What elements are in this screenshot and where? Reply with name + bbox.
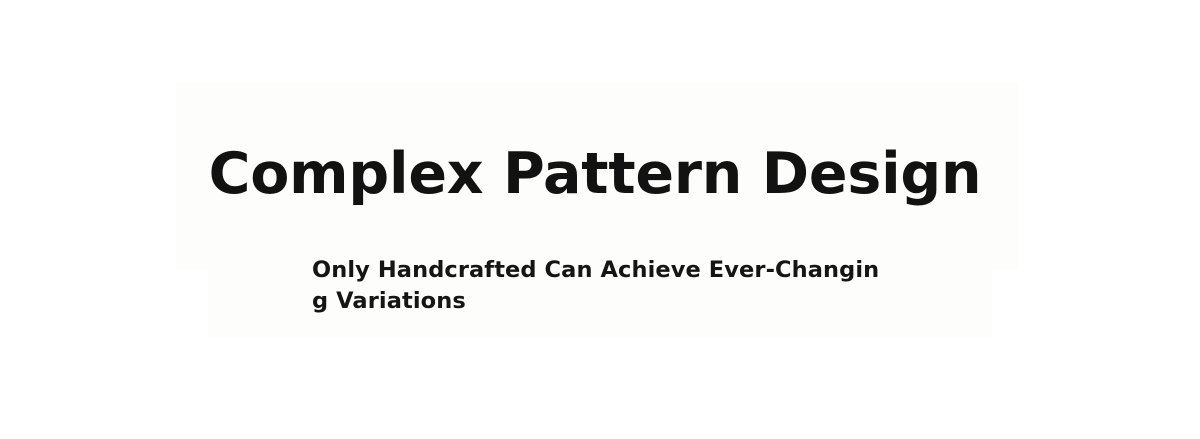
slide-canvas: Complex Pattern Design Only Handcrafted … [0, 0, 1200, 439]
subtitle-backdrop-plate [208, 270, 992, 338]
title-backdrop-plate [176, 82, 1018, 270]
